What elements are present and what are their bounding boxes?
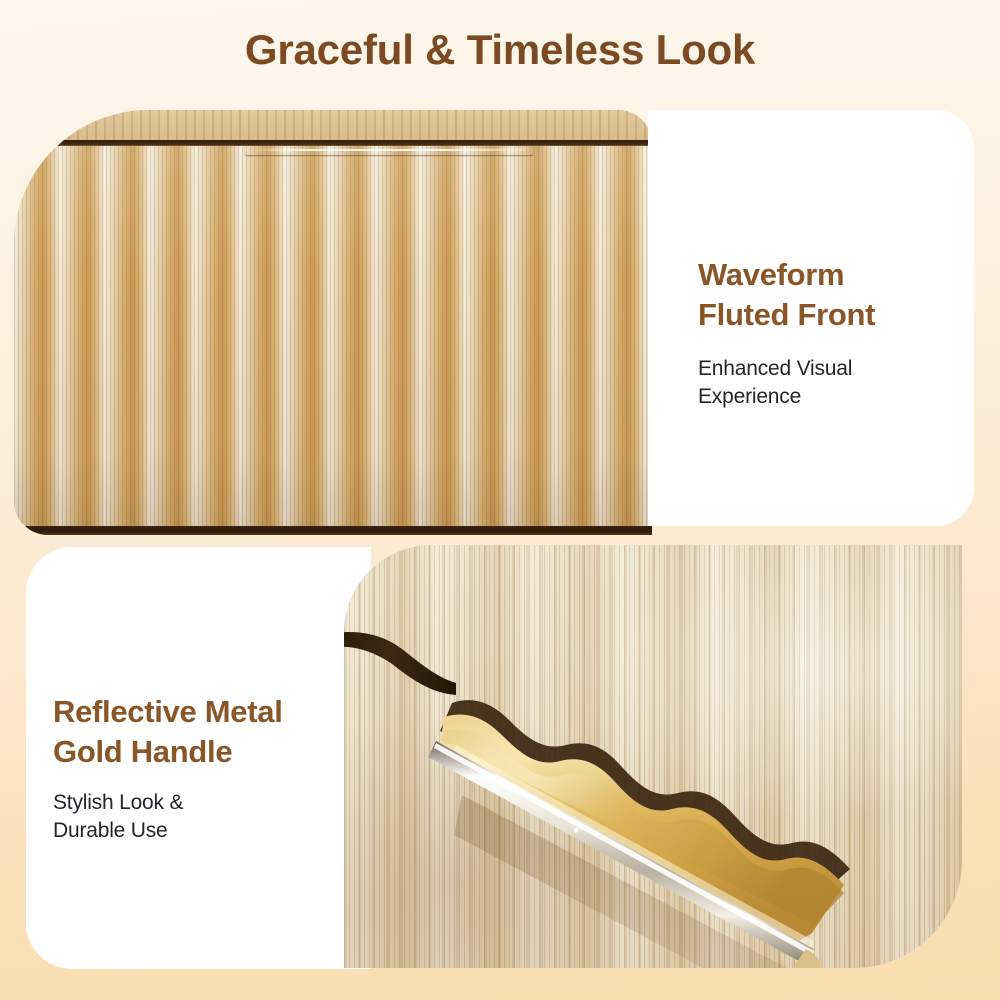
cabinet-fluted-face <box>14 146 652 535</box>
page-title: Graceful & Timeless Look <box>0 26 1000 74</box>
handle-sparkle <box>574 828 579 833</box>
feature-subtext-line-2: Durable Use <box>53 817 183 845</box>
product-photo-fluted-front <box>14 110 652 535</box>
feature-heading-line-1: Reflective Metal <box>53 692 283 732</box>
feature-heading-waveform: Waveform Fluted Front <box>698 255 875 335</box>
feature-heading-line-1: Waveform <box>698 255 875 295</box>
feature-subtext-line-1: Stylish Look & <box>53 789 183 817</box>
gold-handle-illustration <box>344 545 962 968</box>
feature-heading-line-2: Fluted Front <box>698 295 875 335</box>
feature-subtext-line-2: Experience <box>698 383 852 411</box>
feature-heading-gold-handle: Reflective Metal Gold Handle <box>53 692 283 772</box>
cabinet-gold-bar-handle-gloss <box>252 149 526 151</box>
feature-subtext-gold-handle: Stylish Look & Durable Use <box>53 789 183 845</box>
promo-poster: Graceful & Timeless Look Waveform Fluted… <box>0 0 1000 1000</box>
feature-card-gold-handle: Reflective Metal Gold Handle Stylish Loo… <box>26 547 371 969</box>
cabinet-bottom-edge-shadow <box>14 526 652 535</box>
feature-subtext-line-1: Enhanced Visual <box>698 355 852 383</box>
cabinet-top-surface <box>14 110 652 144</box>
groove-cut-upper-left <box>344 632 456 695</box>
feature-card-waveform-fluted-front: Waveform Fluted Front Enhanced Visual Ex… <box>648 110 974 526</box>
feature-heading-line-2: Gold Handle <box>53 732 283 772</box>
product-photo-gold-handle <box>344 545 962 968</box>
feature-subtext-waveform: Enhanced Visual Experience <box>698 355 852 411</box>
